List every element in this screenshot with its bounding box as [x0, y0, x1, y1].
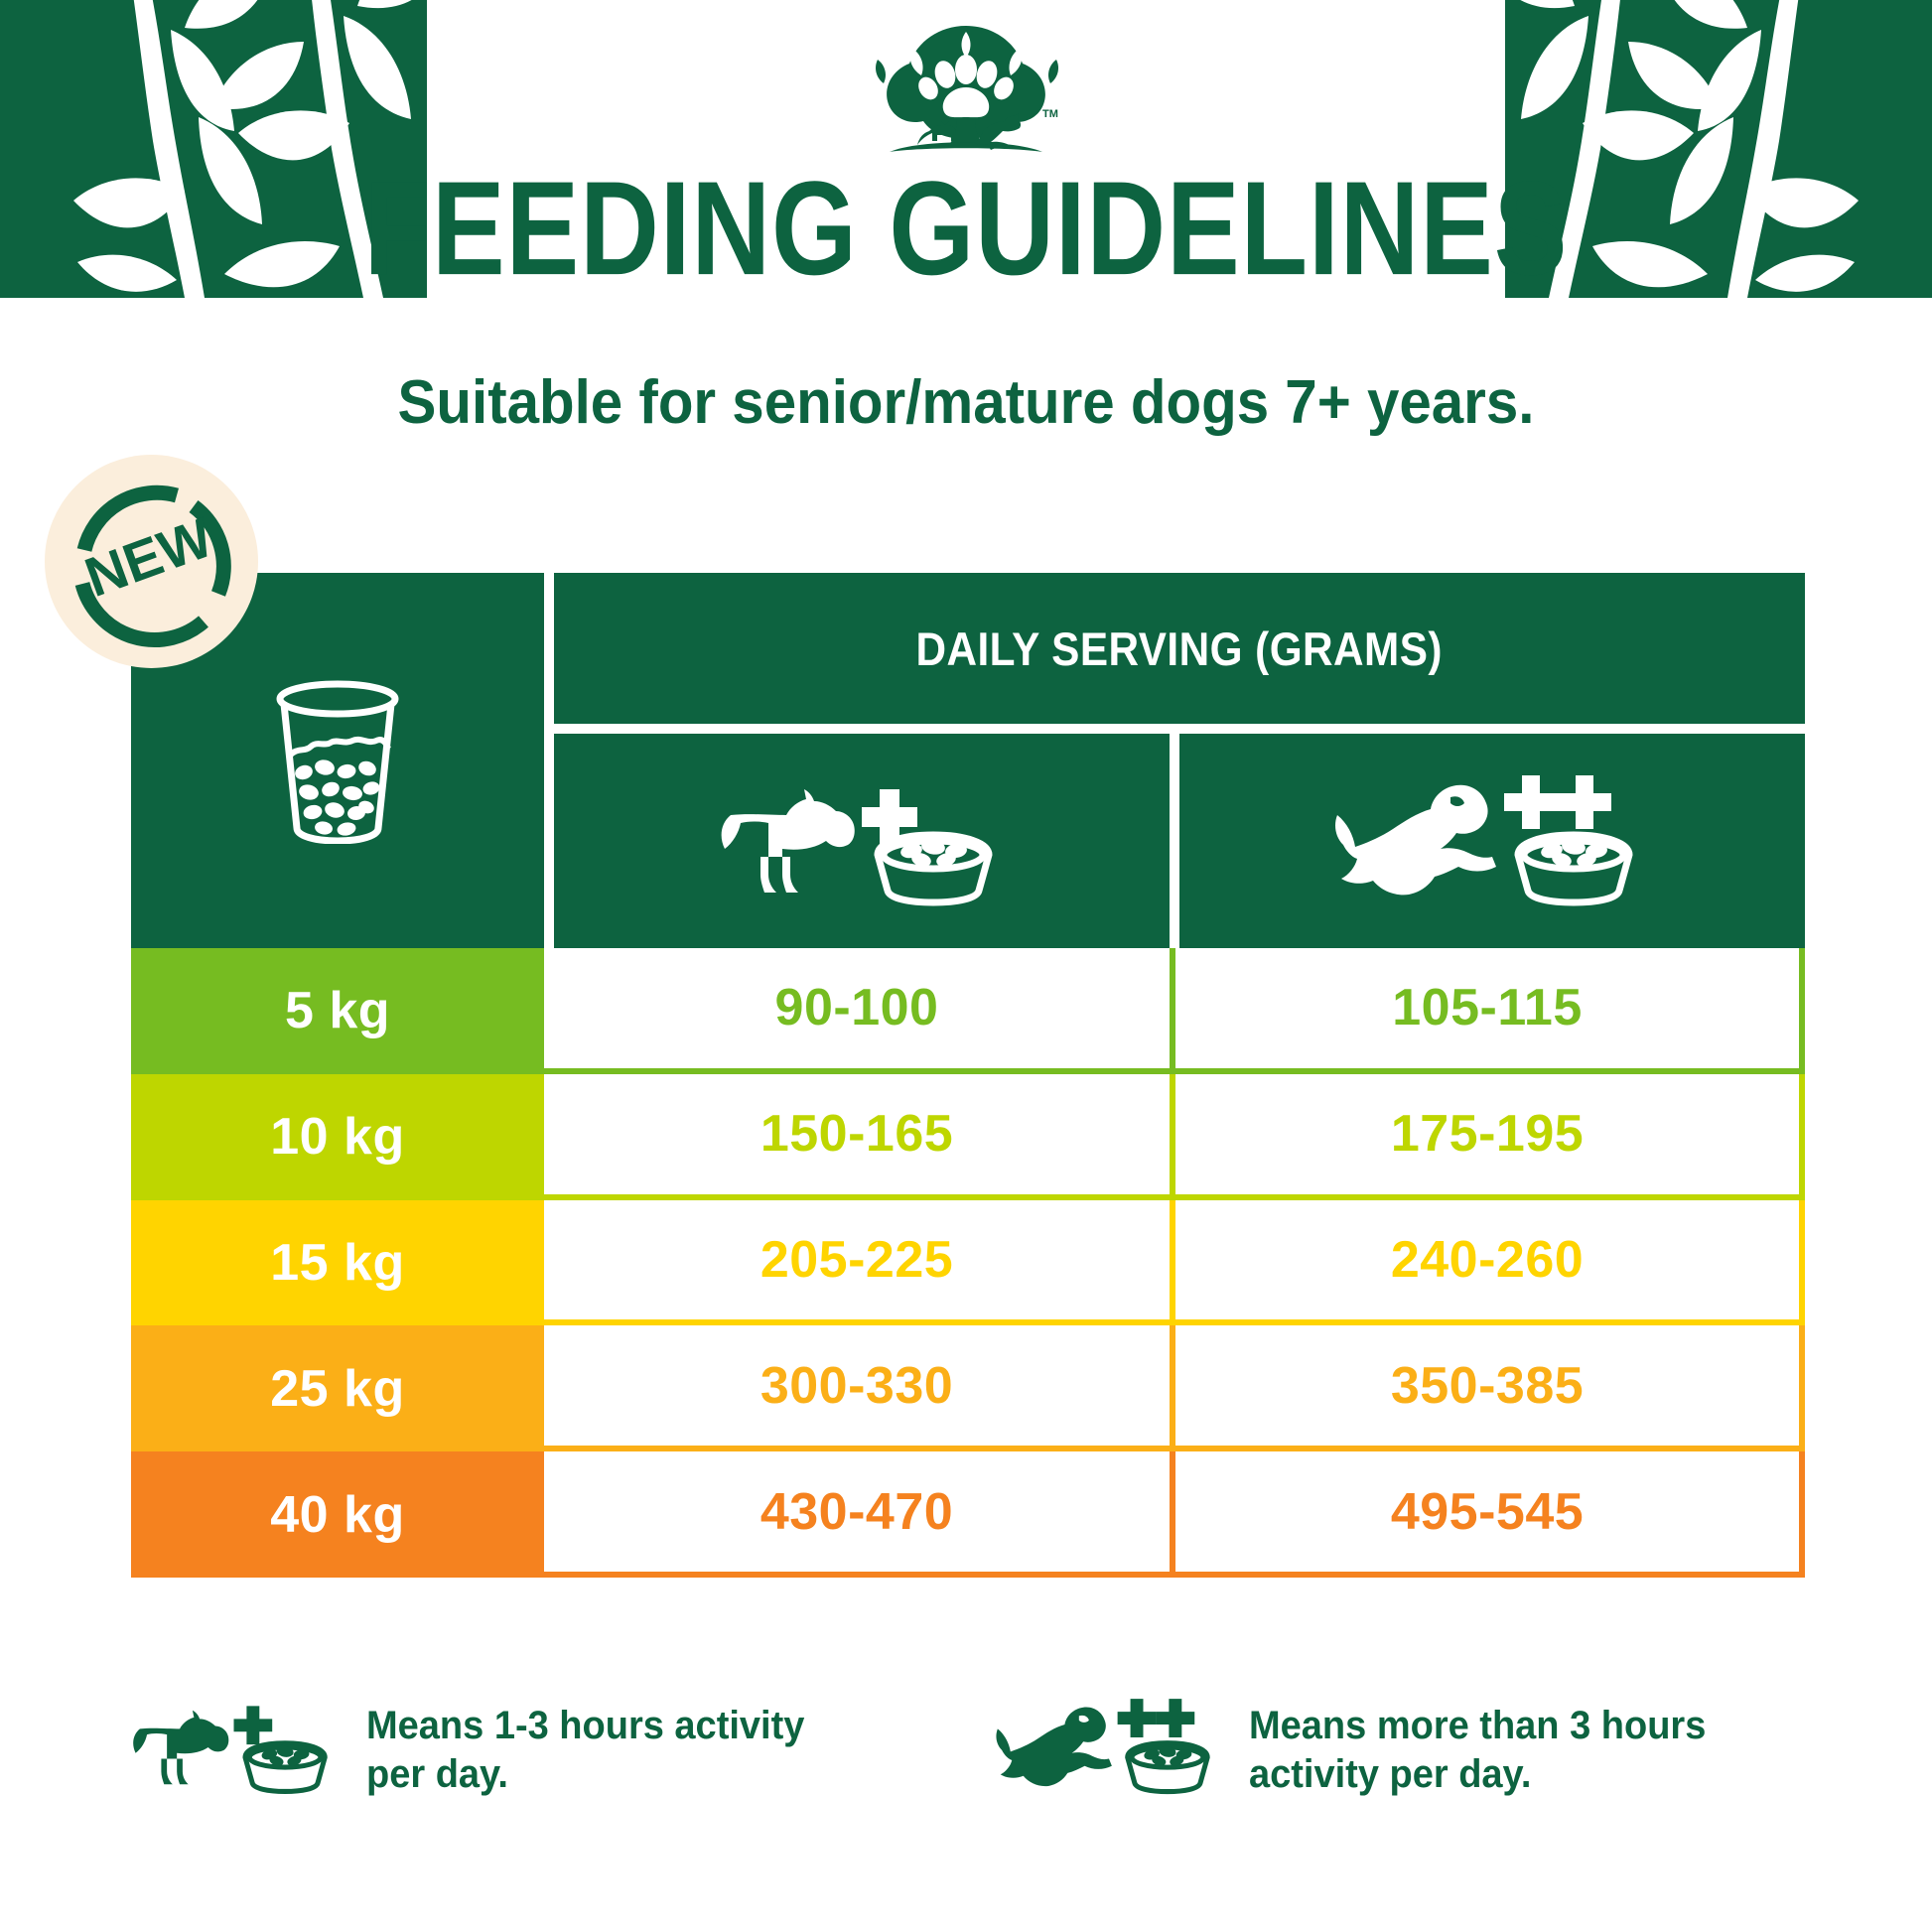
legend-line-1: Means more than 3 hours — [1249, 1702, 1706, 1750]
row-value-high: 105-115 — [1175, 948, 1799, 1068]
legend-icon-low — [127, 1688, 341, 1812]
page-subtitle: Suitable for senior/mature dogs 7+ years… — [58, 372, 1873, 434]
legend-icon-high — [995, 1688, 1223, 1812]
page-title: FEEDING GUIDELINES — [77, 162, 1855, 295]
measuring-cup-kibble-icon — [263, 677, 412, 844]
table-row: 5 kg 90-100 105-115 — [131, 948, 1805, 1074]
legend-text-low: Means 1-3 hours activity per day. — [366, 1702, 804, 1799]
row-weight-cell: 5 kg — [131, 948, 544, 1074]
row-value-high: 240-260 — [1175, 1200, 1799, 1320]
table-body: 5 kg 90-100 105-115 10 kg 150-165 175-19… — [131, 948, 1805, 1578]
table-row: 25 kg 300-330 350-385 — [131, 1325, 1805, 1451]
standing-dog-bowl-plus-icon — [713, 771, 1011, 910]
jumping-dog-bowl-plusplus-icon — [1333, 771, 1651, 910]
jumping-dog-bowl-plusplus-icon — [995, 1688, 1223, 1807]
new-badge: NEW — [45, 455, 258, 668]
row-value-high: 175-195 — [1175, 1074, 1799, 1194]
feeding-guidelines-page: TM FEEDING GUIDELINES Suitable for senio… — [0, 0, 1932, 1932]
trademark-symbol: TM — [1042, 108, 1058, 120]
table-header-activity-low — [554, 734, 1170, 948]
table-row: 40 kg 430-470 495-545 — [131, 1451, 1805, 1578]
legend-text-high: Means more than 3 hours activity per day… — [1249, 1702, 1706, 1799]
row-weight-cell: 15 kg — [131, 1200, 544, 1326]
tree-paw-cat-dog-logo: TM — [872, 22, 1060, 156]
table-row: 15 kg 205-225 240-260 — [131, 1200, 1805, 1326]
row-value-low: 430-470 — [544, 1451, 1175, 1572]
legend-item: Means more than 3 hours activity per day… — [995, 1688, 1730, 1812]
legend-line-2: activity per day. — [1249, 1750, 1706, 1799]
legend-item: Means 1-3 hours activity per day. — [127, 1688, 828, 1812]
legend-line-1: Means 1-3 hours activity — [366, 1702, 804, 1750]
row-weight-cell: 25 kg — [131, 1325, 544, 1451]
row-values: 90-100 105-115 — [544, 948, 1805, 1074]
row-value-low: 90-100 — [544, 948, 1175, 1068]
activity-legend: Means 1-3 hours activity per day. — [0, 1688, 1932, 1866]
row-values: 150-165 175-195 — [544, 1074, 1805, 1200]
row-values: 430-470 495-545 — [544, 1451, 1805, 1578]
daily-serving-label: DAILY SERVING (GRAMS) — [916, 621, 1443, 676]
row-value-low: 300-330 — [544, 1325, 1175, 1446]
standing-dog-bowl-plus-icon — [127, 1688, 341, 1807]
row-value-high: 350-385 — [1175, 1325, 1799, 1446]
row-weight-cell: 10 kg — [131, 1074, 544, 1200]
row-value-high: 495-545 — [1175, 1451, 1799, 1572]
table-header-activity-high — [1179, 734, 1805, 948]
table-row: 10 kg 150-165 175-195 — [131, 1074, 1805, 1200]
row-values: 300-330 350-385 — [544, 1325, 1805, 1451]
feeding-table: DAILY SERVING (GRAMS) — [131, 573, 1805, 1578]
row-values: 205-225 240-260 — [544, 1200, 1805, 1326]
row-value-low: 205-225 — [544, 1200, 1175, 1320]
row-value-low: 150-165 — [544, 1074, 1175, 1194]
table-header-daily-serving: DAILY SERVING (GRAMS) — [554, 573, 1805, 724]
legend-line-2: per day. — [366, 1750, 804, 1799]
row-weight-cell: 40 kg — [131, 1451, 544, 1578]
